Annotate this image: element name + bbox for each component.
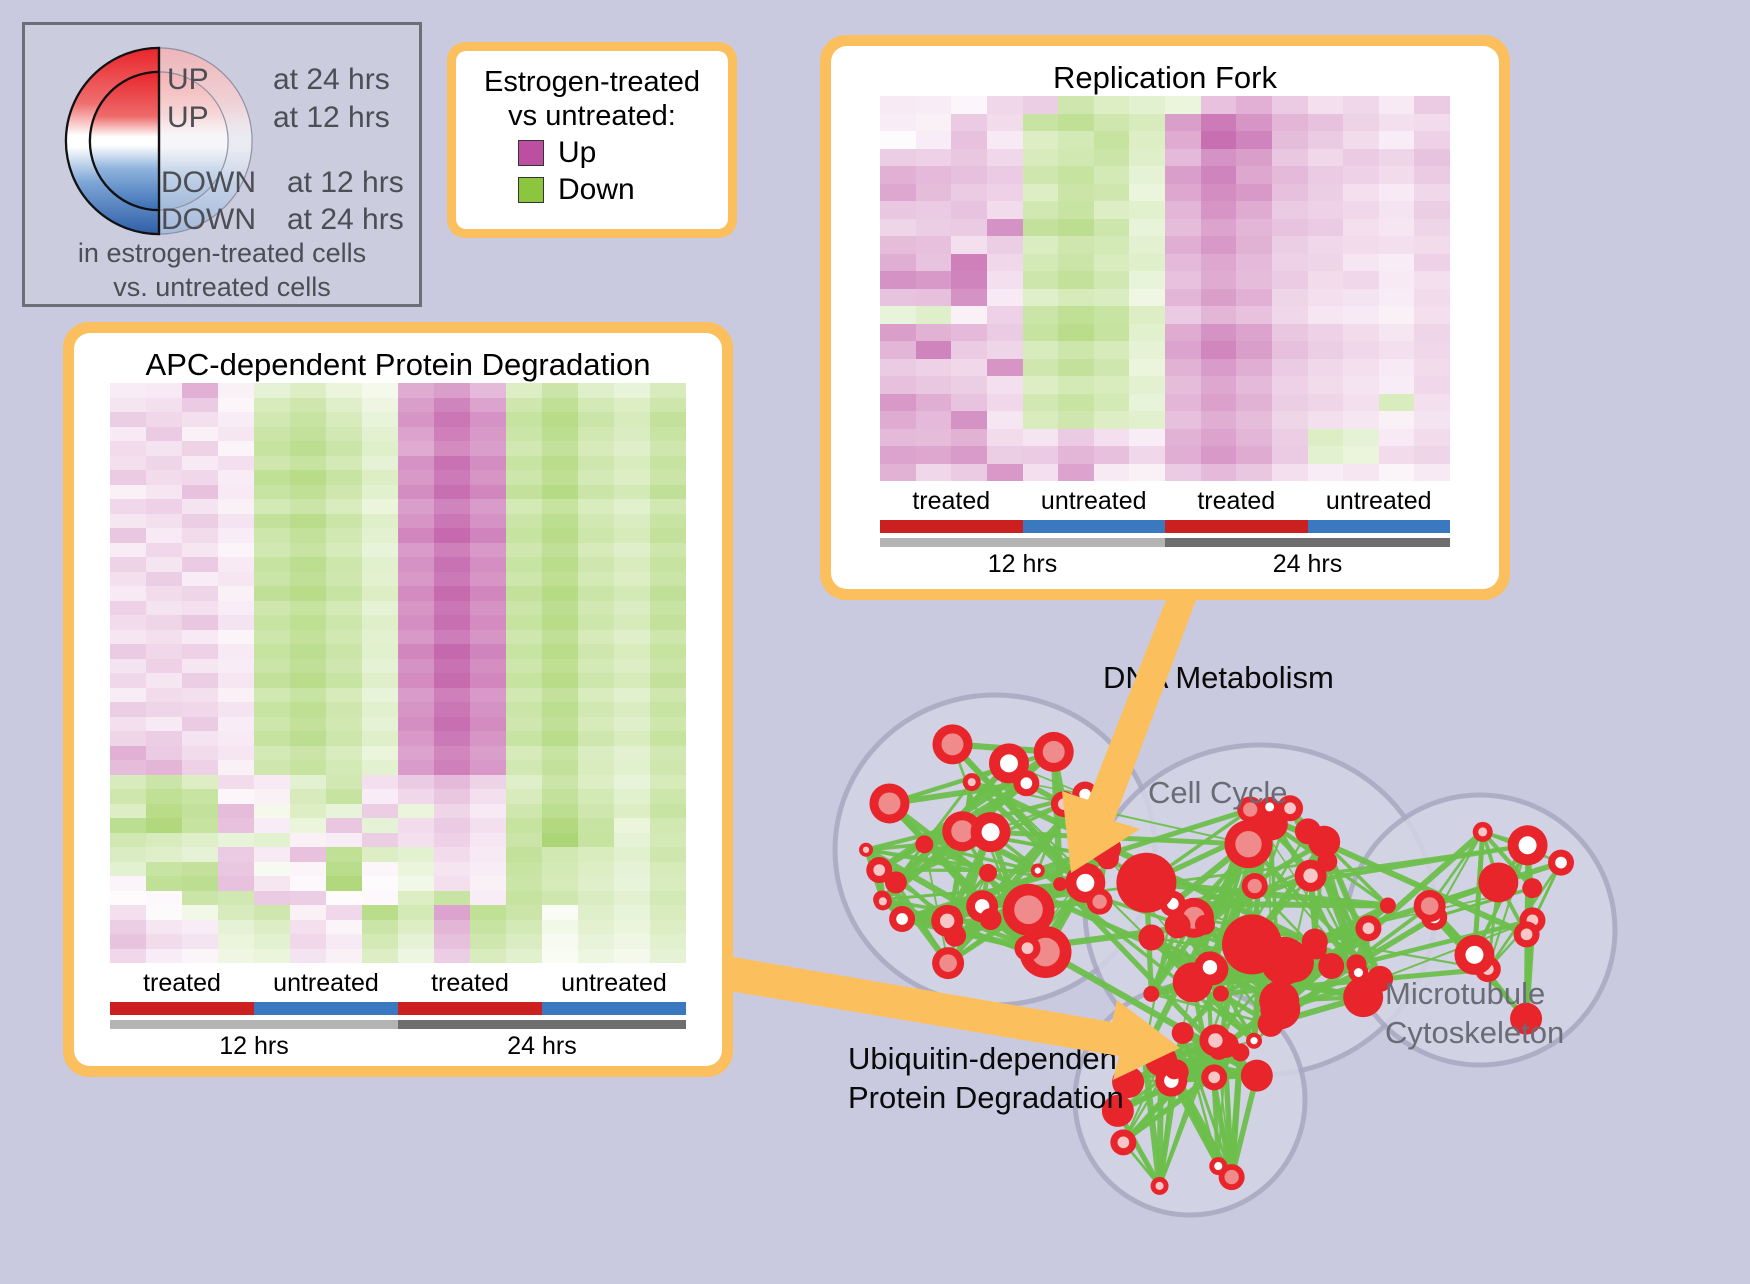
condition-label-2: treated — [398, 969, 542, 998]
heatmap-cell — [254, 717, 290, 732]
heatmap-cell — [1379, 394, 1415, 412]
heatmap-cell — [110, 833, 146, 848]
heatmap-cell — [614, 659, 650, 674]
panel-apc-dependent-protein-degradation: APC-dependent Protein Degradation treate… — [63, 322, 733, 1077]
heatmap-cell — [1236, 131, 1272, 149]
heatmap-cell — [470, 702, 506, 717]
key-direction-3: DOWN — [161, 203, 256, 237]
heatmap-cell — [254, 702, 290, 717]
legend-label-up: Up — [558, 136, 596, 170]
heatmap-cell — [916, 289, 952, 307]
heatmap-cell — [650, 847, 686, 862]
heatmap-cell — [362, 876, 398, 891]
network-node — [1053, 877, 1067, 891]
heatmap-cell — [1308, 359, 1344, 377]
heatmap-cell — [470, 485, 506, 500]
cluster-label-cell-cycle: Cell Cycle — [1148, 775, 1288, 811]
network-diagram: DNA Metabolism Cell Cycle Microtubule Cy… — [790, 600, 1750, 1279]
heatmap-cell — [434, 934, 470, 949]
heatmap-cell — [1379, 184, 1415, 202]
estrogen-legend-title-line2: vs untreated: — [466, 99, 718, 133]
heatmap-cell — [254, 688, 290, 703]
heatmap-cell — [1343, 271, 1379, 289]
heatmap-cell — [1201, 254, 1237, 272]
heatmap-cell — [398, 572, 434, 587]
heatmap-cell — [398, 557, 434, 572]
heatmap-cell — [916, 236, 952, 254]
heatmap-cell — [614, 876, 650, 891]
heatmap-cell — [182, 688, 218, 703]
heatmap-cell — [434, 586, 470, 601]
heatmap-cell — [506, 876, 542, 891]
heatmap-cell — [326, 485, 362, 500]
heatmap-cell — [1414, 411, 1450, 429]
heatmap-cell — [398, 659, 434, 674]
heatmap-cell — [578, 615, 614, 630]
heatmap-cell — [506, 673, 542, 688]
heatmap-cell — [326, 702, 362, 717]
heatmap-cell — [326, 746, 362, 761]
heatmap-cell — [1343, 341, 1379, 359]
heatmap-cell — [987, 114, 1023, 132]
heatmap-cell — [1058, 96, 1094, 114]
heatmap-cell — [398, 586, 434, 601]
heatmap-cell — [614, 949, 650, 964]
heatmap-cell — [1343, 96, 1379, 114]
heatmap-cell — [218, 731, 254, 746]
network-node-core — [1208, 1072, 1220, 1084]
heatmap-cell — [434, 543, 470, 558]
heatmap-cell — [1236, 359, 1272, 377]
heatmap-cell — [254, 760, 290, 775]
heatmap-cell — [650, 746, 686, 761]
heatmap-cell — [880, 166, 916, 184]
heatmap-cell — [326, 833, 362, 848]
heatmap-cell — [434, 514, 470, 529]
heatmap-cell — [146, 499, 182, 514]
heatmap-cell — [1308, 394, 1344, 412]
heatmap-cell — [1129, 236, 1165, 254]
heatmap-cell — [470, 514, 506, 529]
heatmap-cell — [218, 876, 254, 891]
heatmap-cell — [362, 717, 398, 732]
heatmap-cell — [218, 775, 254, 790]
heatmap-cell — [1414, 429, 1450, 447]
heatmap-cell — [880, 446, 916, 464]
heatmap-cell — [1343, 236, 1379, 254]
heatmap-cell — [1379, 341, 1415, 359]
heatmap-cell — [182, 905, 218, 920]
heatmap-cell — [1023, 219, 1059, 237]
heatmap-cell — [218, 644, 254, 659]
heatmap-cell — [506, 557, 542, 572]
heatmap-cell — [182, 920, 218, 935]
heatmap-cell — [1308, 254, 1344, 272]
heatmap-cell — [110, 557, 146, 572]
heatmap-cell — [254, 949, 290, 964]
heatmap-cell — [1414, 201, 1450, 219]
heatmap-cell — [880, 289, 916, 307]
heatmap-cell — [110, 427, 146, 442]
heatmap-cell — [916, 341, 952, 359]
heatmap-cell — [290, 499, 326, 514]
heatmap-cell — [880, 464, 916, 482]
heatmap-cell — [1308, 341, 1344, 359]
heatmap-cell — [542, 528, 578, 543]
heatmap-cell — [1129, 359, 1165, 377]
heatmap-cell — [650, 673, 686, 688]
heatmap-cell — [1165, 254, 1201, 272]
heatmap-cell — [1023, 464, 1059, 482]
heatmap-cell — [1272, 289, 1308, 307]
heatmap-cell — [110, 441, 146, 456]
heatmap-cell — [470, 572, 506, 587]
condition-bar-replication-fork — [880, 520, 1450, 533]
heatmap-cell — [434, 644, 470, 659]
heatmap-cell — [1058, 324, 1094, 342]
heatmap-cell — [1308, 411, 1344, 429]
heatmap-cell — [326, 659, 362, 674]
heatmap-cell — [362, 818, 398, 833]
heatmap-cell — [1094, 411, 1130, 429]
heatmap-cell — [1343, 324, 1379, 342]
heatmap-cell — [1236, 289, 1272, 307]
heatmap-cell — [398, 702, 434, 717]
heatmap-cell — [290, 789, 326, 804]
heatmap-cell — [1058, 429, 1094, 447]
heatmap-cell — [1272, 236, 1308, 254]
heatmap-cell — [916, 219, 952, 237]
heatmap-cell — [987, 184, 1023, 202]
heatmap-cell — [398, 862, 434, 877]
heatmap-cell — [146, 833, 182, 848]
heatmap-cell — [146, 847, 182, 862]
heatmap-cell — [182, 557, 218, 572]
heatmap-cell — [506, 905, 542, 920]
heatmap-cell — [1414, 149, 1450, 167]
heatmap-cell — [290, 456, 326, 471]
heatmap-cell — [1236, 271, 1272, 289]
heatmap-cell — [614, 891, 650, 906]
network-node-core — [982, 823, 1000, 841]
heatmap-cell — [578, 557, 614, 572]
condition-labels-apc: treated untreated treated untreated — [110, 969, 686, 998]
heatmap-cell — [218, 441, 254, 456]
heatmap-cell — [1379, 324, 1415, 342]
heatmap-cell — [470, 528, 506, 543]
time-bar-apc — [110, 1020, 686, 1029]
heatmap-cell — [1165, 166, 1201, 184]
heatmap-cell — [506, 383, 542, 398]
heatmap-cell — [951, 306, 987, 324]
heatmap-cell — [398, 717, 434, 732]
heatmap-cell — [290, 876, 326, 891]
network-node-core — [1555, 857, 1567, 869]
heatmap-cell — [110, 775, 146, 790]
heatmap-cell — [1094, 184, 1130, 202]
heatmap-cell — [1379, 411, 1415, 429]
heatmap-cell — [578, 905, 614, 920]
heatmap-cell — [434, 833, 470, 848]
heatmap-cell — [326, 949, 362, 964]
condition-bar-segment-2 — [398, 1002, 542, 1015]
heatmap-cell — [1343, 376, 1379, 394]
heatmap-cell — [146, 789, 182, 804]
heatmap-cell — [470, 644, 506, 659]
network-node-core — [1058, 798, 1070, 810]
heatmap-cell — [146, 427, 182, 442]
network-node — [1343, 977, 1383, 1017]
heatmap-cell — [951, 464, 987, 482]
network-node-core — [1118, 1137, 1130, 1149]
heatmap-cell — [218, 717, 254, 732]
heatmap-cell — [1343, 306, 1379, 324]
heatmap-cell — [1343, 114, 1379, 132]
heatmap-cell — [434, 441, 470, 456]
heatmap-cell — [398, 818, 434, 833]
heatmap-cell — [650, 717, 686, 732]
heatmap-cell — [542, 876, 578, 891]
heatmap-cell — [146, 891, 182, 906]
heatmap-cell — [434, 528, 470, 543]
heatmap-cell — [434, 412, 470, 427]
heatmap-cell — [218, 485, 254, 500]
heatmap-cell — [362, 804, 398, 819]
heatmap-cell — [362, 673, 398, 688]
heatmap-cell — [1414, 306, 1450, 324]
heatmap-cell — [470, 441, 506, 456]
heatmap-cell — [1414, 289, 1450, 307]
heatmap-cell — [951, 236, 987, 254]
time-label-0: 12 hrs — [880, 550, 1165, 579]
heatmap-cell — [880, 429, 916, 447]
heatmap-cell — [146, 949, 182, 964]
heatmap-cell — [542, 949, 578, 964]
heatmap-cell — [1236, 324, 1272, 342]
heatmap-cell — [218, 891, 254, 906]
heatmap-cell — [578, 746, 614, 761]
heatmap-cell — [182, 398, 218, 413]
heatmap-cell — [880, 376, 916, 394]
heatmap-cell — [916, 114, 952, 132]
heatmap-cell — [1236, 429, 1272, 447]
heatmap-cell — [506, 717, 542, 732]
heatmap-cell — [218, 412, 254, 427]
heatmap-cell — [182, 934, 218, 949]
heatmap-cell — [362, 746, 398, 761]
heatmap-cell — [1272, 114, 1308, 132]
heatmap-cell — [1414, 341, 1450, 359]
heatmap-cell — [434, 630, 470, 645]
heatmap-cell — [1165, 289, 1201, 307]
heatmap-cell — [290, 934, 326, 949]
heatmap-cell — [362, 920, 398, 935]
heatmap-cell — [434, 949, 470, 964]
heatmap-cell — [614, 789, 650, 804]
heatmap-cell — [146, 702, 182, 717]
panel-title-replication-fork: Replication Fork — [831, 46, 1499, 96]
heatmap-cell — [1129, 114, 1165, 132]
heatmap-cell — [542, 818, 578, 833]
heatmap-cell — [182, 586, 218, 601]
heatmap-cell — [542, 543, 578, 558]
heatmap-cell — [290, 746, 326, 761]
heatmap-cell — [1094, 464, 1130, 482]
heatmap-cell — [362, 514, 398, 529]
heatmap-cell — [614, 818, 650, 833]
heatmap-cell — [218, 760, 254, 775]
heatmap-cell — [1272, 131, 1308, 149]
heatmap-cell — [398, 383, 434, 398]
heatmap-cell — [182, 485, 218, 500]
heatmap-cell — [614, 847, 650, 862]
condition-bar-apc — [110, 1002, 686, 1015]
heatmap-cell — [506, 920, 542, 935]
heatmap-cell — [326, 398, 362, 413]
heatmap-cell — [362, 630, 398, 645]
heatmap-cell — [218, 615, 254, 630]
heatmap-cell — [110, 862, 146, 877]
heatmap-cell — [1094, 254, 1130, 272]
network-node-core — [1519, 836, 1537, 854]
heatmap-cell — [1308, 219, 1344, 237]
heatmap-cell — [650, 499, 686, 514]
heatmap-cell — [1129, 219, 1165, 237]
heatmap-cell — [650, 557, 686, 572]
heatmap-cell — [1129, 394, 1165, 412]
heatmap-cell — [916, 446, 952, 464]
heatmap-cell — [614, 760, 650, 775]
heatmap-cell — [110, 398, 146, 413]
heatmap-cell — [182, 818, 218, 833]
heatmap-cell — [218, 659, 254, 674]
heatmap-cell — [578, 586, 614, 601]
heatmap-cell — [506, 818, 542, 833]
heatmap-cell — [146, 514, 182, 529]
heatmap-cell — [1058, 341, 1094, 359]
heatmap-cell — [542, 557, 578, 572]
heatmap-cell — [362, 659, 398, 674]
heatmap-cell — [182, 862, 218, 877]
heatmap-cell — [398, 891, 434, 906]
time-label-1: 24 hrs — [1165, 550, 1450, 579]
heatmap-cell — [1129, 446, 1165, 464]
key-direction-0: UP — [167, 63, 209, 97]
heatmap-cell — [916, 324, 952, 342]
heatmap-cell — [1343, 254, 1379, 272]
heatmap-cell — [578, 485, 614, 500]
heatmap-cell — [254, 876, 290, 891]
heatmap-cell — [182, 731, 218, 746]
heatmap-cell — [1165, 324, 1201, 342]
heatmap-cell — [470, 775, 506, 790]
heatmap-cell — [1379, 359, 1415, 377]
heatmap-cell — [182, 673, 218, 688]
heatmap-cell — [542, 586, 578, 601]
time-label-1: 24 hrs — [398, 1032, 686, 1061]
heatmap-cell — [326, 731, 362, 746]
heatmap-cell — [1058, 254, 1094, 272]
heatmap-cell — [218, 920, 254, 935]
heatmap-cell — [1201, 114, 1237, 132]
network-node-core — [1203, 960, 1217, 974]
heatmap-cell — [614, 644, 650, 659]
heatmap-cell — [434, 760, 470, 775]
heatmap-cell — [578, 818, 614, 833]
heatmap-cell — [362, 499, 398, 514]
heatmap-cell — [218, 833, 254, 848]
heatmap-cell — [218, 673, 254, 688]
heatmap-cell — [1236, 411, 1272, 429]
condition-label-0: treated — [110, 969, 254, 998]
heatmap-cell — [916, 429, 952, 447]
heatmap-cell — [290, 427, 326, 442]
network-node-core — [878, 792, 900, 814]
heatmap-cell — [146, 630, 182, 645]
heatmap-cell — [614, 456, 650, 471]
heatmap-cell — [254, 572, 290, 587]
estrogen-legend-box: Estrogen-treated vs untreated: Up Down — [447, 42, 737, 238]
heatmap-cell — [578, 702, 614, 717]
heatmap-cell — [326, 934, 362, 949]
heatmap-cell — [1201, 376, 1237, 394]
heatmap-cell — [578, 572, 614, 587]
heatmap-cell — [987, 376, 1023, 394]
heatmap-cell — [1308, 271, 1344, 289]
axis-apc: treated untreated treated untreated 12 h — [110, 969, 686, 1061]
heatmap-cell — [650, 818, 686, 833]
heatmap-cell — [110, 731, 146, 746]
heatmap-cell — [434, 804, 470, 819]
heatmap-cell — [614, 557, 650, 572]
heatmap-cell — [110, 789, 146, 804]
heatmap-cell — [1023, 149, 1059, 167]
time-bar-replication-fork — [880, 538, 1450, 547]
axis-replication-fork: treated untreated treated untreated 12 h — [880, 487, 1450, 579]
estrogen-legend-title-line1: Estrogen-treated — [466, 65, 718, 99]
heatmap-cell — [146, 804, 182, 819]
heatmap-cell — [326, 412, 362, 427]
heatmap-cell — [951, 376, 987, 394]
heatmap-cell — [614, 862, 650, 877]
heatmap-cell — [916, 394, 952, 412]
heatmap-cell — [398, 499, 434, 514]
heatmap-cell — [1308, 201, 1344, 219]
heatmap-cell — [290, 731, 326, 746]
heatmap-cell — [916, 184, 952, 202]
heatmap-cell — [1272, 429, 1308, 447]
heatmap-cell — [1272, 96, 1308, 114]
heatmap-cell — [542, 485, 578, 500]
heatmap-cell — [182, 833, 218, 848]
heatmap-cell — [398, 601, 434, 616]
heatmap-cell — [110, 891, 146, 906]
heatmap-cell — [290, 630, 326, 645]
heatmap-cell — [362, 949, 398, 964]
heatmap-cell — [326, 847, 362, 862]
heatmap-cell — [362, 688, 398, 703]
color-key-box: UP at 24 hrs UP at 12 hrs DOWN at 12 hrs… — [22, 22, 422, 307]
network-node-core — [1092, 894, 1106, 908]
heatmap-cell — [578, 456, 614, 471]
cluster-label-ubiquitin-line2: Protein Degradation — [848, 1079, 1126, 1118]
heatmap-cell — [146, 543, 182, 558]
heatmap-cell — [434, 905, 470, 920]
heatmap-cell — [434, 818, 470, 833]
heatmap-cell — [987, 341, 1023, 359]
heatmap-cell — [1379, 114, 1415, 132]
heatmap-cell — [1414, 376, 1450, 394]
